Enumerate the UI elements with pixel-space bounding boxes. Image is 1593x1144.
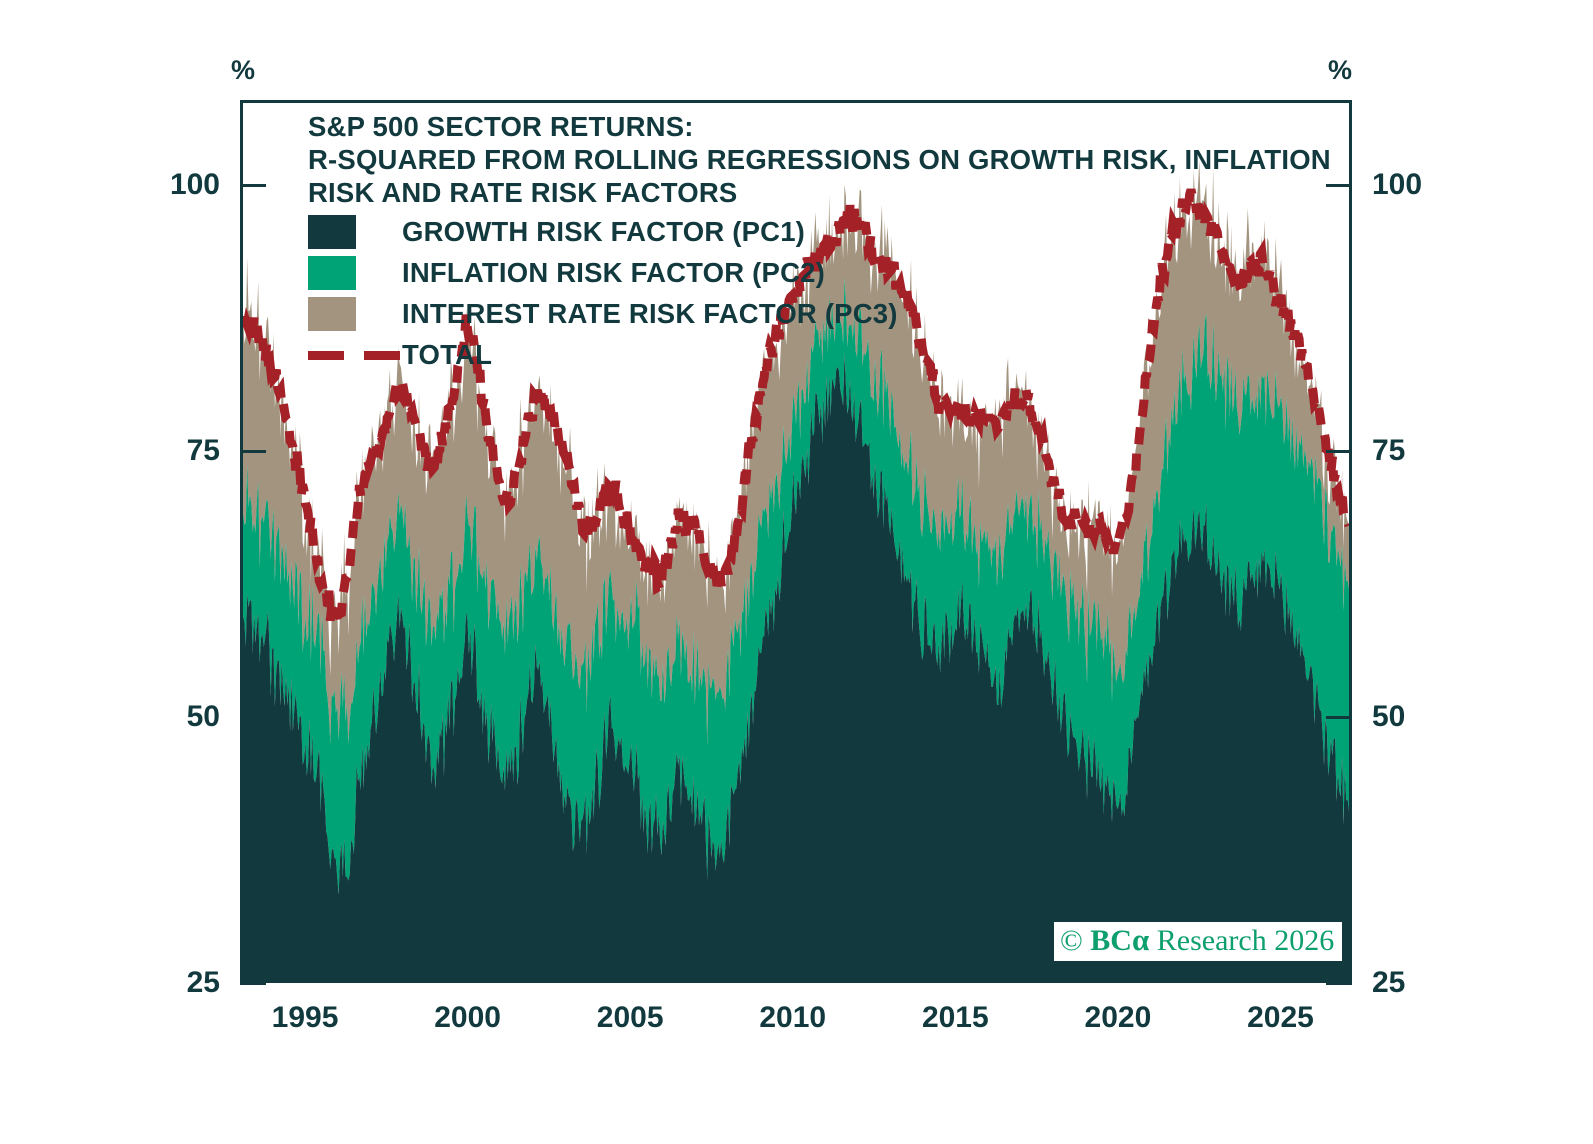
y-tick-mark-right: [1326, 982, 1352, 985]
chart-page: % % 100100757550502525 19952000200520102…: [0, 0, 1593, 1144]
chart-legend: GROWTH RISK FACTOR (PC1)INFLATION RISK F…: [308, 211, 1318, 375]
y-tick-label-right: 75: [1372, 436, 1405, 466]
chart-header: S&P 500 SECTOR RETURNS: R-SQUARED FROM R…: [308, 110, 1318, 375]
left-axis-unit-label: %: [231, 57, 256, 84]
chart-title-line-1: S&P 500 SECTOR RETURNS:: [308, 110, 1318, 143]
dashed-line-icon: [308, 338, 416, 372]
x-tick-label: 2010: [759, 1003, 826, 1033]
y-tick-label-right: 100: [1372, 170, 1422, 200]
x-tick-label: 1995: [272, 1003, 339, 1033]
square-swatch-icon: [308, 256, 356, 290]
legend-item-1[interactable]: GROWTH RISK FACTOR (PC1): [308, 211, 1318, 252]
legend-item-3[interactable]: INTEREST RATE RISK FACTOR (PC3): [308, 293, 1318, 334]
y-tick-mark-right: [1326, 716, 1352, 719]
brand-name-prefix: BC: [1090, 924, 1132, 957]
x-tick-label: 2005: [597, 1003, 664, 1033]
copyright-suffix: Research 2026: [1157, 924, 1334, 957]
y-tick-label-right: 25: [1372, 968, 1405, 998]
square-swatch-icon: [308, 215, 356, 249]
chart-title-line-2: R-SQUARED FROM ROLLING REGRESSIONS ON GR…: [308, 143, 1318, 176]
legend-item-2[interactable]: INFLATION RISK FACTOR (PC2): [308, 252, 1318, 293]
y-tick-mark-left: [240, 982, 266, 985]
y-tick-mark-left: [240, 184, 266, 187]
copyright-symbol: ©: [1060, 924, 1083, 957]
x-tick-label: 2020: [1085, 1003, 1152, 1033]
y-tick-label-right: 50: [1372, 702, 1405, 732]
right-axis-unit-label: %: [1328, 57, 1353, 84]
y-tick-mark-left: [240, 450, 266, 453]
y-tick-label-left: 75: [120, 436, 220, 466]
copyright-watermark: © BCα Research 2026: [1054, 922, 1342, 961]
brand-alpha-glyph: α: [1132, 922, 1149, 957]
legend-item-label: GROWTH RISK FACTOR (PC1): [402, 218, 805, 246]
y-tick-label-left: 25: [120, 968, 220, 998]
y-tick-mark-right: [1326, 450, 1352, 453]
x-tick-label: 2015: [922, 1003, 989, 1033]
x-tick-label: 2025: [1247, 1003, 1314, 1033]
square-swatch-icon: [308, 297, 356, 331]
y-tick-mark-left: [240, 716, 266, 719]
x-tick-label: 2000: [434, 1003, 501, 1033]
legend-item-label: INFLATION RISK FACTOR (PC2): [402, 259, 825, 287]
y-tick-label-left: 50: [120, 702, 220, 732]
y-tick-label-left: 100: [120, 170, 220, 200]
legend-item-label: INTEREST RATE RISK FACTOR (PC3): [402, 300, 898, 328]
y-tick-mark-right: [1326, 184, 1352, 187]
legend-item-4[interactable]: TOTAL: [308, 334, 1318, 375]
chart-title-line-3: RISK AND RATE RISK FACTORS: [308, 176, 1318, 209]
